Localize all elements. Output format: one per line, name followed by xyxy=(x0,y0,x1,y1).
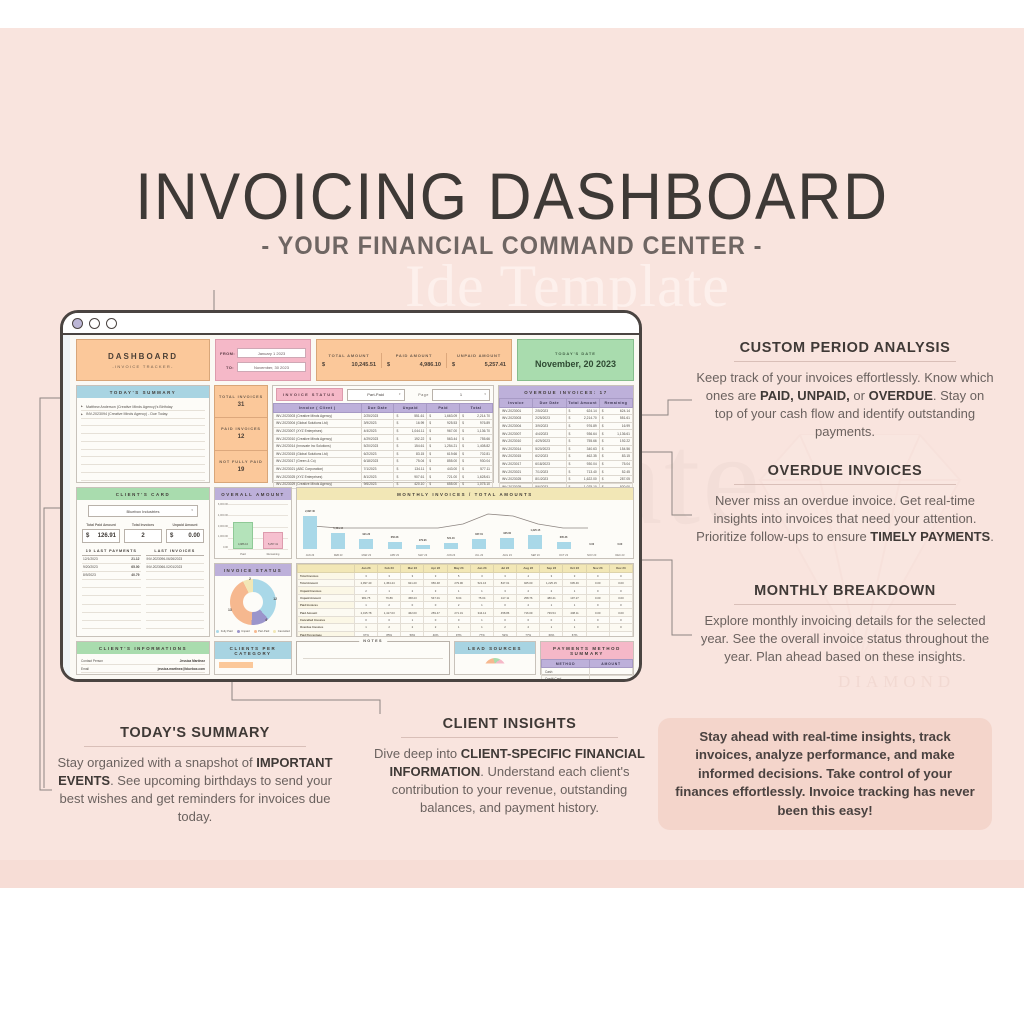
cell: 85% xyxy=(378,631,401,637)
cell: 0 xyxy=(401,602,424,609)
table-row xyxy=(146,596,205,604)
cell-amount: 2,214.70 xyxy=(566,415,599,423)
cell-total: 702.81 xyxy=(460,450,493,458)
table-row: INV-20230176/18/2023930.0475.04 xyxy=(500,460,633,468)
row-label: Cancelled Invoices xyxy=(298,616,355,623)
cell: 0 xyxy=(517,616,540,623)
bar-label: JAN 23 xyxy=(298,554,322,557)
notes-panel: NOTES xyxy=(296,641,450,675)
last-invoices-table: LAST INVOICES INV-2023096-06/26/2023 INV… xyxy=(146,549,205,629)
cell-invoice: INV-2023004 xyxy=(500,422,533,430)
cell: 0.00 xyxy=(586,579,609,586)
table-row xyxy=(146,588,205,596)
y-tick: 0.00 xyxy=(217,546,228,549)
info-label: Email xyxy=(81,667,89,671)
unpaid-amount-number: 5,257.41 xyxy=(485,362,506,368)
dashboard-lower-row: CLIENT'S CARD Bluebox Industries Total P… xyxy=(76,487,634,637)
cell-date: 8/9/2023 xyxy=(83,573,96,577)
y-axis-ticks: 6,000.00 4,000.00 3,000.00 1,000.00 0.00 xyxy=(217,503,228,549)
total-amount-currency: $ xyxy=(322,362,325,368)
cell-paid: 721.00 xyxy=(427,473,460,481)
table-row: INV-2023021 (ABC Corporation)7/1/2023134… xyxy=(274,465,493,473)
row-label: Paid Percentage xyxy=(298,631,355,637)
total-amount-metric: TOTAL AMOUNT $ 10,245.51 xyxy=(317,353,382,368)
lead-sources-panel: LEAD SOURCES xyxy=(454,641,536,675)
cell-paid: 563.44 xyxy=(427,435,460,443)
cell: 3 xyxy=(493,587,516,594)
cell-remaining: 52.45 xyxy=(599,468,632,476)
window-close-icon[interactable] xyxy=(72,318,83,329)
cell-unpaid: 75.04 xyxy=(394,458,427,466)
annotation-heading: CUSTOM PERIOD ANALYSIS xyxy=(695,340,995,361)
period-from-row: FROM: January 1 2023 xyxy=(220,348,306,358)
cell: 1 xyxy=(470,602,493,609)
kpi-number: 126.91 xyxy=(98,533,116,539)
client-informations-header: CLIENT'S INFORMATIONS xyxy=(77,642,209,654)
cell: 2 xyxy=(354,587,377,594)
cell-invoice: INV-2023025 xyxy=(500,475,533,483)
client-select[interactable]: Bluebox Industries xyxy=(88,505,198,517)
annotation-body: Explore monthly invoicing details for th… xyxy=(695,612,995,666)
total-invoices-value: 31 xyxy=(238,402,245,408)
cell-invoice: INV-2023001 xyxy=(500,407,533,415)
cell-unpaid: 16.99 xyxy=(394,420,427,428)
cell-total: 755.66 xyxy=(460,435,493,443)
bar-label: OCT 23 xyxy=(552,554,576,557)
annotation-divider xyxy=(84,746,306,747)
donut-value-part-paid: 13 xyxy=(228,608,232,612)
cell-due: 5/20/2023 xyxy=(533,445,566,453)
table-row xyxy=(82,580,141,588)
y-tick: 4,000.00 xyxy=(217,514,228,517)
bar-label: Remaining xyxy=(260,553,286,556)
cell-due: 3/9/2023 xyxy=(361,420,394,428)
cell: 3 xyxy=(563,572,586,579)
col-invoice-client: Invoice ( Client ) xyxy=(274,404,362,413)
dashboard-title-card: DASHBOARD -INVOICE TRACKER- xyxy=(76,339,210,381)
cell-remaining: 551.61 xyxy=(599,415,632,423)
table-row: INV-20230156/2/2023462.3583.15 xyxy=(500,453,633,461)
page-select[interactable]: 1 xyxy=(432,389,490,401)
todays-date-label: TODAY'S DATE xyxy=(555,351,596,356)
period-to-input[interactable]: November, 30 2023 xyxy=(237,362,306,372)
cell-due: 4/29/2023 xyxy=(533,437,566,445)
row-label: Paid Amount xyxy=(298,609,355,616)
cell-date: 9/20/2023 xyxy=(83,565,98,569)
cell: 258.76 xyxy=(517,594,540,601)
invoice-status-pager: Page 1 xyxy=(418,389,490,401)
cell-paid: 925.53 xyxy=(427,420,460,428)
window-maximize-icon[interactable] xyxy=(106,318,117,329)
annotation-heading: MONTHLY BREAKDOWN xyxy=(695,583,995,604)
cell: 0 xyxy=(586,624,609,631)
col-month: Nov 23 xyxy=(586,565,609,573)
table-row: INV-2023014 (Innovate Inc Solutions)5/20… xyxy=(274,442,493,450)
invoice-status-toolbar: INVOICE STATUS Part-Paid Page 1 xyxy=(273,386,493,403)
invoice-status-title: INVOICE STATUS xyxy=(276,388,343,401)
list-item xyxy=(81,457,205,465)
paid-amount-number: 4,986.10 xyxy=(420,362,441,368)
cell: 1 xyxy=(470,624,493,631)
bar-value: 2,997.40 xyxy=(298,510,322,513)
period-to-row: TO: November, 30 2023 xyxy=(220,362,306,372)
table-row: Total Invoices333353343300 xyxy=(298,572,633,579)
cell: 0 xyxy=(424,616,447,623)
total-invoices-stat: TOTAL INVOICES 31 xyxy=(215,386,267,418)
cell: 417.11 xyxy=(493,594,516,601)
unpaid-amount-metric: UNPAID AMOUNT $ 5,257.41 xyxy=(447,353,511,368)
cell-invoice: INV-2023015 (Global Solutions Ltd) xyxy=(274,450,362,458)
cell: 0 xyxy=(586,587,609,594)
table-row: INV-20230217/1/2023713.4052.45 xyxy=(500,468,633,476)
cell-unpaid: 154.61 xyxy=(394,442,427,450)
cell: 1,225.15 xyxy=(540,579,563,586)
not-fully-paid-stat: NOT FULLY PAID 19 xyxy=(215,451,267,482)
cell-remaining: 287.05 xyxy=(599,475,632,483)
paid-amount-label: PAID AMOUNT xyxy=(384,353,444,358)
not-fully-paid-value: 19 xyxy=(238,467,245,473)
cell-due: 5/20/2023 xyxy=(361,442,394,450)
cell-amount: 755.66 xyxy=(566,437,599,445)
period-filter-card[interactable]: FROM: January 1 2023 TO: November, 30 20… xyxy=(215,339,311,381)
table-row: INV-20230145/20/2023340.63154.56 xyxy=(500,445,633,453)
cell: 2,015.78 xyxy=(354,609,377,616)
cell: 1 xyxy=(540,602,563,609)
table-row: INV-20230258/1/20231,622.00287.05 xyxy=(500,475,633,483)
cell-due: 2/25/2023 xyxy=(533,415,566,423)
table-row xyxy=(146,580,205,588)
dashboard-header-row: DASHBOARD -INVOICE TRACKER- FROM: Januar… xyxy=(76,339,634,381)
bar-label: JUN 23 xyxy=(439,554,463,557)
cell-paid: 1,254.21 xyxy=(427,442,460,450)
table-row: INV-2023096-06/26/2023 xyxy=(146,556,205,564)
table-row: Paid Invoices120021021100 xyxy=(298,602,633,609)
cell: 0.00 xyxy=(586,609,609,616)
annotation-todays-summary: TODAY'S SUMMARY Stay organized with a sn… xyxy=(45,725,345,826)
overdue-invoices-panel: OVERDUE INVOICES: 17 Invoice Due Date To… xyxy=(498,385,634,483)
cell-total: 577.11 xyxy=(460,465,493,473)
legend-item-fully-paid: Fully Paid xyxy=(216,630,232,633)
cell-invoice: INV-2023021 xyxy=(500,468,533,476)
table-row xyxy=(146,613,205,621)
cell-invoice: INV-2023003 xyxy=(500,415,533,423)
cell-unpaid: 1,044.11 xyxy=(394,427,427,435)
cell-amount: 40.79 xyxy=(131,573,139,577)
client-total-invoices-kpi: Total Invoices 2 xyxy=(124,523,162,543)
kpi-value: $ 0.00 xyxy=(166,529,204,543)
monthly-rows: Total Invoices333353343300 Total Amount2… xyxy=(298,572,633,637)
cell-unpaid: 192.22 xyxy=(394,435,427,443)
todays-summary-list: Matthew Anderson (Creative Minds Agency)… xyxy=(77,398,209,486)
legend-label: Unpaid xyxy=(241,630,250,633)
col-month: Apr 23 xyxy=(424,565,447,573)
cell: 0 xyxy=(609,602,632,609)
window-minimize-icon[interactable] xyxy=(89,318,100,329)
info-label: Contact Person xyxy=(81,659,103,663)
todays-date-value: November, 20 2023 xyxy=(535,359,616,369)
col-month: Jul 23 xyxy=(493,565,516,573)
cell-remaining: 83.15 xyxy=(599,453,632,461)
chart-column: OVERALL AMOUNT 6,000.00 4,000.00 3,000.0… xyxy=(214,487,292,637)
table-row: INV-2023004 (Global Solutions Ltd)3/9/20… xyxy=(274,420,493,428)
cell: 3 xyxy=(470,572,493,579)
cell: 8.04 xyxy=(447,594,470,601)
table-header-row: Jan 23 Feb 23 Mar 23 Apr 23 May 23 Jun 2… xyxy=(298,565,633,573)
legend-item-unpaid: Unpaid xyxy=(237,630,250,633)
table-header-row: Invoice Due Date Total Amount Remaining xyxy=(500,399,633,408)
list-item xyxy=(81,465,205,473)
not-fully-paid-label: NOT FULLY PAID xyxy=(219,460,262,464)
invoice-status-rows: INV-2023003 (Creative Minds Agency)2/25/… xyxy=(274,412,493,488)
table-row xyxy=(82,613,141,621)
list-item: INV-2023094 (Creative Minds Agency) - Du… xyxy=(81,411,205,419)
bar-value: 0.00 xyxy=(608,543,632,546)
cell: 981.75 xyxy=(354,594,377,601)
col-month: Dec 23 xyxy=(609,565,632,573)
cell: 0 xyxy=(354,616,377,623)
cta-text: Stay ahead with real-time insights, trac… xyxy=(674,728,976,820)
col-month: Feb 23 xyxy=(378,565,401,573)
cell: 1 xyxy=(354,624,377,631)
y-tick: 1,000.00 xyxy=(217,535,228,538)
cell: 2 xyxy=(378,602,401,609)
client-kpis: Total Paid Amount $ 126.91 Total Invoice… xyxy=(82,523,204,543)
monthly-breakdown-table: Jan 23 Feb 23 Mar 23 Apr 23 May 23 Jun 2… xyxy=(297,564,633,637)
cell-total: 1,628.61 xyxy=(460,473,493,481)
cell: 0 xyxy=(609,587,632,594)
table-row xyxy=(82,588,141,596)
donut-value-fully-paid: 12 xyxy=(273,597,277,601)
cell-date: 12/1/2023 xyxy=(83,557,98,561)
bar-label: Paid xyxy=(230,553,256,556)
dashboard-mockup-window: DASHBOARD -INVOICE TRACKER- FROM: Januar… xyxy=(60,310,642,682)
table-row: INV-2023003 (Creative Minds Agency)2/25/… xyxy=(274,412,493,420)
overall-amount-panel: OVERALL AMOUNT 6,000.00 4,000.00 3,000.0… xyxy=(214,487,292,559)
table-row: INV-2023017 (Green & Co)6/18/202375.0485… xyxy=(274,458,493,466)
cell: 3 xyxy=(424,587,447,594)
bar-label: FEB 23 xyxy=(326,554,350,557)
monthly-chart: 2,997.40JAN 23 1,454.44FEB 23 921.20MAR … xyxy=(297,500,633,558)
row-label: Paid Invoices xyxy=(298,602,355,609)
donut-ring: 12 4 13 2 xyxy=(230,579,276,625)
cell-due: 8/1/2023 xyxy=(361,473,394,481)
bar-value: 925.00 xyxy=(495,532,519,535)
bar-value: 605.46 xyxy=(552,536,576,539)
list-item xyxy=(81,442,205,450)
bar-sep: 1,225.15SEP 23 xyxy=(528,535,542,549)
page-label: Page xyxy=(418,393,429,397)
table-row: INV-2023025 (XYZ Enterprises)8/1/2023907… xyxy=(274,473,493,481)
bar-value: 847.01 xyxy=(467,533,491,536)
cell: 408.11 xyxy=(563,609,586,616)
monthly-invoices-header: MONTHLY INVOICES / TOTAL AMOUNTS xyxy=(297,488,633,500)
payments-method-table: METHOD AMOUNT Cash Credit Card xyxy=(541,659,633,682)
cell: 2 xyxy=(517,587,540,594)
cell: 2 xyxy=(540,587,563,594)
cell-remaining: 75.04 xyxy=(599,460,632,468)
bar-value: 521.16 xyxy=(439,537,463,540)
cell: 2 xyxy=(447,602,470,609)
cell: 2 xyxy=(401,624,424,631)
cell-amount: 930.04 xyxy=(566,460,599,468)
table-row: INV-20230012/5/2023624.14624.14 xyxy=(500,407,633,415)
cell: 521.16 xyxy=(470,579,493,586)
cell-due: 6/18/2023 xyxy=(533,460,566,468)
bar-label: AUG 23 xyxy=(495,554,519,557)
cell: 60% xyxy=(540,631,563,637)
cell: 0 xyxy=(609,572,632,579)
kpi-number: 0.00 xyxy=(188,533,200,539)
cell: 40% xyxy=(424,631,447,637)
cell-amount: 65.00 xyxy=(131,565,139,569)
cell-total: 2,214.70 xyxy=(460,412,493,420)
kpi-currency: $ xyxy=(86,533,89,539)
lead-sources-header: LEAD SOURCES xyxy=(455,642,535,654)
bar-paid: 4,986.10 Paid xyxy=(233,522,253,549)
cell-due: 2/25/2023 xyxy=(361,412,394,420)
cell: 0 xyxy=(586,616,609,623)
cell-due: 4/4/2023 xyxy=(533,430,566,438)
donut-value-unpaid: 4 xyxy=(265,618,267,622)
table-row: INV-20230032/25/20232,214.70551.61 xyxy=(500,415,633,423)
cell-remaining: 1,136.61 xyxy=(599,430,632,438)
cell: 547.01 xyxy=(424,594,447,601)
cell-due: 2/5/2023 xyxy=(533,407,566,415)
bar-value: 5,257.41 xyxy=(264,543,282,546)
cell-amount xyxy=(590,675,633,682)
notes-line xyxy=(303,652,443,659)
table-row: INV-20230074/4/2023936.641,136.61 xyxy=(500,430,633,438)
annotation-heading: CLIENT INSIGHTS xyxy=(363,716,656,737)
notes-box[interactable]: NOTES xyxy=(296,641,450,675)
row-label: Overdue Invoices xyxy=(298,624,355,631)
bar-label: SEP 23 xyxy=(523,554,547,557)
cell: 656.48 xyxy=(424,579,447,586)
table-row xyxy=(146,572,205,580)
cell: 1 xyxy=(401,616,424,623)
cell: 3 xyxy=(493,572,516,579)
bar-value: 4,986.10 xyxy=(234,543,252,546)
overdue-invoices-header: OVERDUE INVOICES: 17 xyxy=(499,386,633,398)
paid-invoices-stat: PAID INVOICES 12 xyxy=(215,418,267,450)
cell-remaining: 624.14 xyxy=(599,407,632,415)
clients-card-body: Bluebox Industries Total Paid Amount $ 1… xyxy=(77,500,209,634)
cell: 97% xyxy=(447,631,470,637)
cell: 0 xyxy=(609,616,632,623)
cell: 3 xyxy=(378,572,401,579)
dashboard-bottom-row: CLIENT'S INFORMATIONS Contact Person Jes… xyxy=(76,641,634,675)
bar-value: 0.00 xyxy=(580,543,604,546)
cell: 458.23 xyxy=(401,594,424,601)
client-informations-body: Contact Person Jessica Martinez Email je… xyxy=(77,654,209,676)
period-from-label: FROM: xyxy=(220,351,234,356)
annotation-heading: OVERDUE INVOICES xyxy=(695,463,995,484)
todays-date-card: TODAY'S DATE November, 20 2023 xyxy=(517,339,634,381)
cell: 458.86 xyxy=(493,609,516,616)
cell-amount: 1,622.00 xyxy=(566,475,599,483)
cell-total: 930.04 xyxy=(460,458,493,466)
bar-label: DEC 23 xyxy=(608,554,632,557)
unpaid-amount-value: $ 5,257.41 xyxy=(449,362,509,368)
donut-chart: 12 4 13 2 xyxy=(215,576,291,628)
total-amount-value: $ 10,245.51 xyxy=(319,362,379,368)
table-row: Total Amount2,997.401,454.44921.20656.48… xyxy=(298,579,633,586)
kpi-label: Unpaid Amount xyxy=(166,523,204,527)
table-row: 9/20/202365.00 xyxy=(82,564,141,572)
col-month: Mar 23 xyxy=(401,565,424,573)
cell: 2 xyxy=(493,624,516,631)
cell: 1 xyxy=(470,616,493,623)
bar-value: 279.96 xyxy=(411,539,435,542)
cell: 77% xyxy=(470,631,493,637)
cell: 2 xyxy=(517,602,540,609)
invoice-status-donut-header: INVOICE STATUS xyxy=(215,564,291,576)
cell: 2 xyxy=(401,587,424,594)
unpaid-amount-currency: $ xyxy=(452,362,455,368)
cell: 4 xyxy=(517,572,540,579)
table-row xyxy=(82,621,141,629)
table-row: Email jessica.martinez@bluebox.com xyxy=(81,665,205,673)
table-row xyxy=(82,596,141,604)
cell-method: Credit Card xyxy=(542,675,590,682)
row-label: Unpaid Invoices xyxy=(298,587,355,594)
cell: 0 xyxy=(540,616,563,623)
col-total-amount: Total Amount xyxy=(566,399,599,408)
kpi-currency: $ xyxy=(170,533,173,539)
invoice-status-filter-select[interactable]: Part-Paid xyxy=(347,389,405,401)
col-paid: Paid xyxy=(427,404,460,413)
cell-invoice: INV-2023025 (XYZ Enterprises) xyxy=(274,473,362,481)
y-tick: 6,000.00 xyxy=(217,503,228,506)
cell-due: 4/29/2023 xyxy=(361,435,394,443)
annotation-divider xyxy=(734,604,956,605)
table-row: 12/1/202321.12 xyxy=(82,556,141,564)
table-row: Cancelled Invoices001001000100 xyxy=(298,616,633,623)
bar-may: 279.96MAY 23 xyxy=(416,545,430,549)
row-rail xyxy=(63,335,70,682)
cell-due: 8/1/2023 xyxy=(533,475,566,483)
col-metric xyxy=(298,565,355,573)
period-from-input[interactable]: January 1 2023 xyxy=(237,348,306,358)
cell-total: 976.89 xyxy=(460,420,493,428)
col-amount: AMOUNT xyxy=(590,660,633,668)
period-to-label: TO: xyxy=(220,365,234,370)
cell-paid: 619.66 xyxy=(427,450,460,458)
col-remaining: Remaining xyxy=(599,399,632,408)
bar-feb: 1,454.44FEB 23 xyxy=(331,533,345,549)
window-titlebar xyxy=(63,313,639,335)
invoice-status-donut-panel: INVOICE STATUS 12 4 13 2 Fully Paid Unp xyxy=(214,563,292,637)
table-row: INV-20230043/9/2023976.8916.99 xyxy=(500,422,633,430)
cell: 3 xyxy=(401,572,424,579)
cell-paid: 443.00 xyxy=(427,465,460,473)
col-unpaid: Unpaid xyxy=(394,404,427,413)
dashboard-title: DASHBOARD xyxy=(108,352,178,361)
table-row: INV-20230104/29/2023755.66192.22 xyxy=(500,437,633,445)
cell-unpaid: 907.61 xyxy=(394,473,427,481)
cell-paid: 855.00 xyxy=(427,458,460,466)
monthly-invoices-panel: MONTHLY INVOICES / TOTAL AMOUNTS 2,997.4… xyxy=(296,487,634,559)
background-strip-bottom xyxy=(0,860,1024,888)
cell-amount: 340.63 xyxy=(566,445,599,453)
donut-value-cancelled: 2 xyxy=(249,577,251,581)
bar-value: 921.20 xyxy=(354,533,378,536)
bar-jul: 847.01JUL 23 xyxy=(472,539,486,549)
cell-invoice: INV-2023010 xyxy=(500,437,533,445)
payments-method-rows: Cash Credit Card xyxy=(542,668,633,682)
amount-summary-card: TOTAL AMOUNT $ 10,245.51 PAID AMOUNT $ 4… xyxy=(316,339,512,381)
cell: 5 xyxy=(447,572,470,579)
